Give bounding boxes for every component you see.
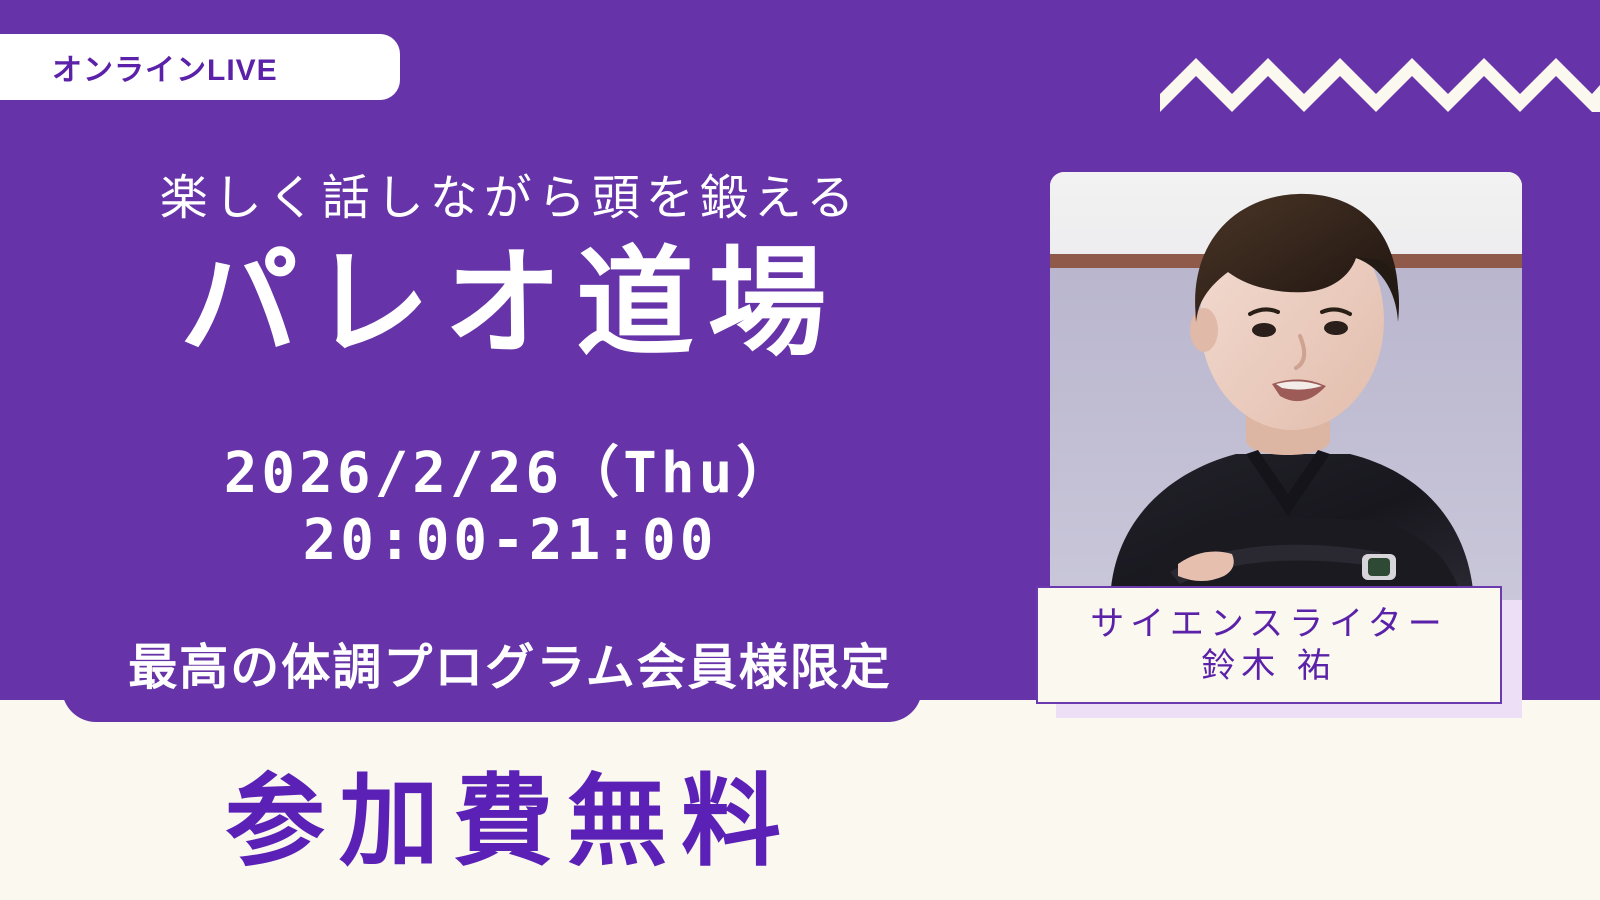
event-poster: オンラインLIVE 楽しく話しながら頭を鍛える パレオ道場 2026/2/26（… xyxy=(0,0,1600,900)
zigzag-icon xyxy=(1160,50,1600,112)
speaker-card: サイエンスライター 鈴木 祐 xyxy=(1036,586,1502,704)
speaker-photo xyxy=(1050,172,1522,602)
event-date: 2026/2/26（Thu） xyxy=(0,428,1020,509)
hero-text-column: 楽しく話しながら頭を鍛える パレオ道場 2026/2/26（Thu） 20:00… xyxy=(0,0,1020,700)
page-title: パレオ道場 xyxy=(0,238,1020,370)
price-free-label: 参加費無料 xyxy=(0,740,1020,885)
speaker-role: サイエンスライター xyxy=(1090,603,1448,646)
members-only-note: 最高の体調プログラム会員様限定 xyxy=(0,628,1020,699)
hero-kicker: 楽しく話しながら頭を鍛える xyxy=(0,158,1020,228)
speaker-name: 鈴木 祐 xyxy=(1201,645,1336,688)
event-time: 20:00-21:00 xyxy=(0,508,1020,573)
